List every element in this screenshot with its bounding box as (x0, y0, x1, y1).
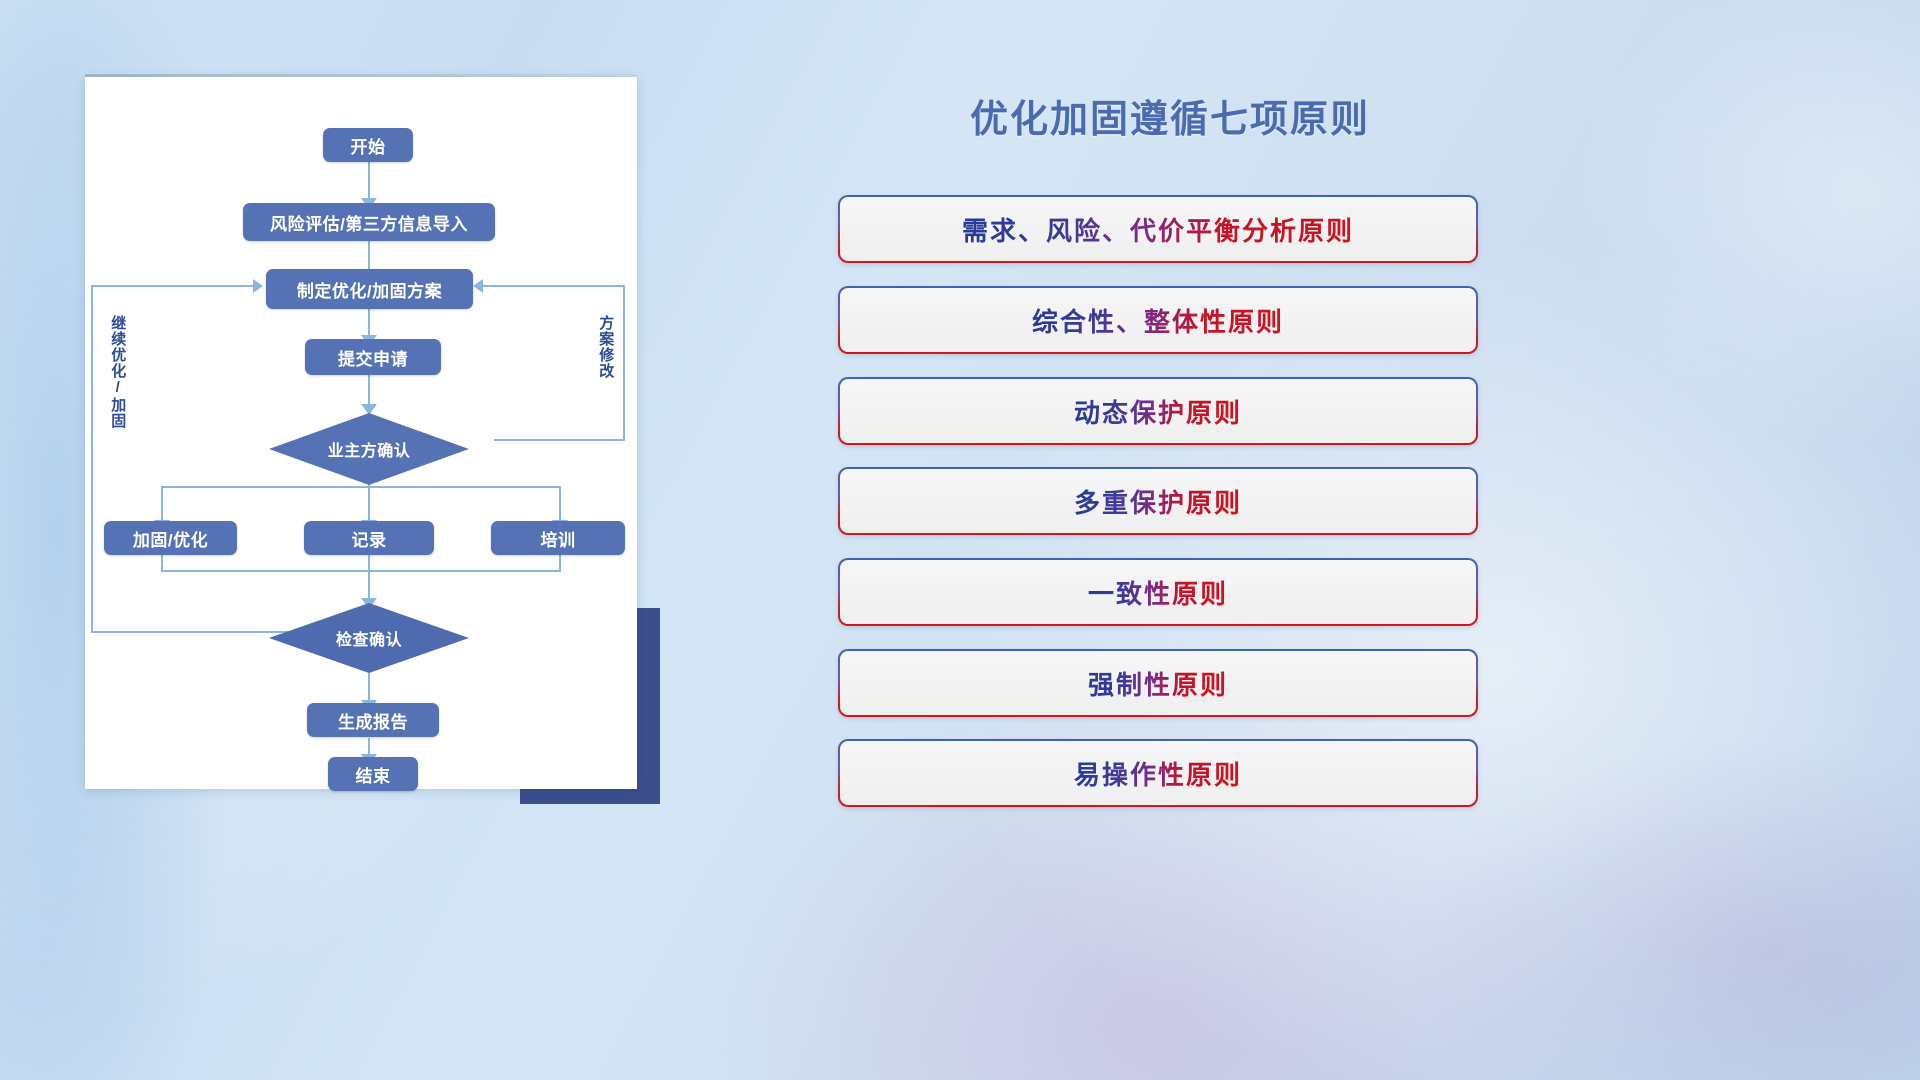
connector-right-loop-top (481, 285, 625, 287)
principle-card-3-label: 动态保护原则 (1074, 393, 1242, 430)
connector-submit-to-owner (368, 374, 370, 408)
connector-record-to-check (368, 555, 370, 602)
flow-node-start-label: 开始 (351, 133, 386, 158)
edge-label-plan-revision: 方案修改 (597, 315, 613, 415)
flow-node-record-label: 记录 (352, 526, 387, 551)
flowchart-panel: 开始 风险评估/第三方信息导入 制定优化/加固方案 提交申请 业主方确认 加固/… (85, 77, 637, 789)
flow-node-reinforce-label: 加固/优化 (133, 526, 208, 551)
edge-label-continue-optimize: 继续优化/加固 (109, 315, 125, 455)
principle-card-1-label: 需求、风险、代价平衡分析原则 (962, 211, 1354, 248)
principle-card-7[interactable]: 易操作性原则 (838, 739, 1478, 807)
flow-node-check-confirm[interactable]: 检查确认 (269, 603, 469, 673)
flow-node-training-label: 培训 (541, 526, 576, 551)
principle-card-6[interactable]: 强制性原则 (838, 649, 1478, 717)
flow-node-reinforce[interactable]: 加固/优化 (104, 521, 237, 555)
principle-card-5-label: 一致性原则 (1088, 574, 1228, 611)
arrow-into-plan-left (253, 279, 263, 293)
connector-left-loop-top (91, 285, 255, 287)
flow-node-risk-assessment[interactable]: 风险评估/第三方信息导入 (243, 203, 495, 241)
connector-left-loop-vertical (91, 285, 93, 633)
panel-top-edge (85, 74, 637, 77)
principle-card-2-label: 综合性、整体性原则 (1032, 302, 1284, 339)
connector-right-loop-bottom (494, 439, 625, 441)
flow-node-owner-confirm[interactable]: 业主方确认 (269, 413, 469, 485)
principle-card-3[interactable]: 动态保护原则 (838, 377, 1478, 445)
connector-start-to-risk (368, 160, 370, 201)
arrow-into-plan-right (473, 279, 483, 293)
principle-card-5[interactable]: 一致性原则 (838, 558, 1478, 626)
connector-right-loop-vertical (623, 285, 625, 441)
connector-owner-fanout (161, 486, 559, 488)
flow-node-report[interactable]: 生成报告 (307, 703, 439, 737)
principle-card-1[interactable]: 需求、风险、代价平衡分析原则 (838, 195, 1478, 263)
flow-node-plan[interactable]: 制定优化/加固方案 (266, 269, 473, 309)
principle-card-2[interactable]: 综合性、整体性原则 (838, 286, 1478, 354)
flow-node-submit[interactable]: 提交申请 (305, 339, 441, 375)
connector-check-to-report (368, 673, 370, 703)
flow-node-start[interactable]: 开始 (323, 128, 413, 162)
flow-node-owner-confirm-label: 业主方确认 (269, 413, 469, 485)
connector-to-reinforce (161, 486, 163, 523)
flow-node-check-confirm-label: 检查确认 (269, 603, 469, 673)
connector-fan-in (161, 570, 561, 572)
flow-node-record[interactable]: 记录 (304, 521, 434, 555)
flow-node-training[interactable]: 培训 (491, 521, 625, 555)
connector-to-training (559, 486, 561, 523)
principles-title: 优化加固遵循七项原则 (840, 88, 1500, 143)
flow-node-report-label: 生成报告 (338, 708, 408, 733)
principle-card-4[interactable]: 多重保护原则 (838, 467, 1478, 535)
flow-node-submit-label: 提交申请 (338, 345, 408, 370)
flow-node-plan-label: 制定优化/加固方案 (297, 277, 442, 302)
flow-node-risk-assessment-label: 风险评估/第三方信息导入 (270, 210, 468, 235)
principle-card-4-label: 多重保护原则 (1074, 483, 1242, 520)
flow-node-end[interactable]: 结束 (328, 757, 418, 791)
principle-card-7-label: 易操作性原则 (1074, 755, 1242, 792)
flow-node-end-label: 结束 (356, 762, 391, 787)
principle-card-6-label: 强制性原则 (1088, 665, 1228, 702)
